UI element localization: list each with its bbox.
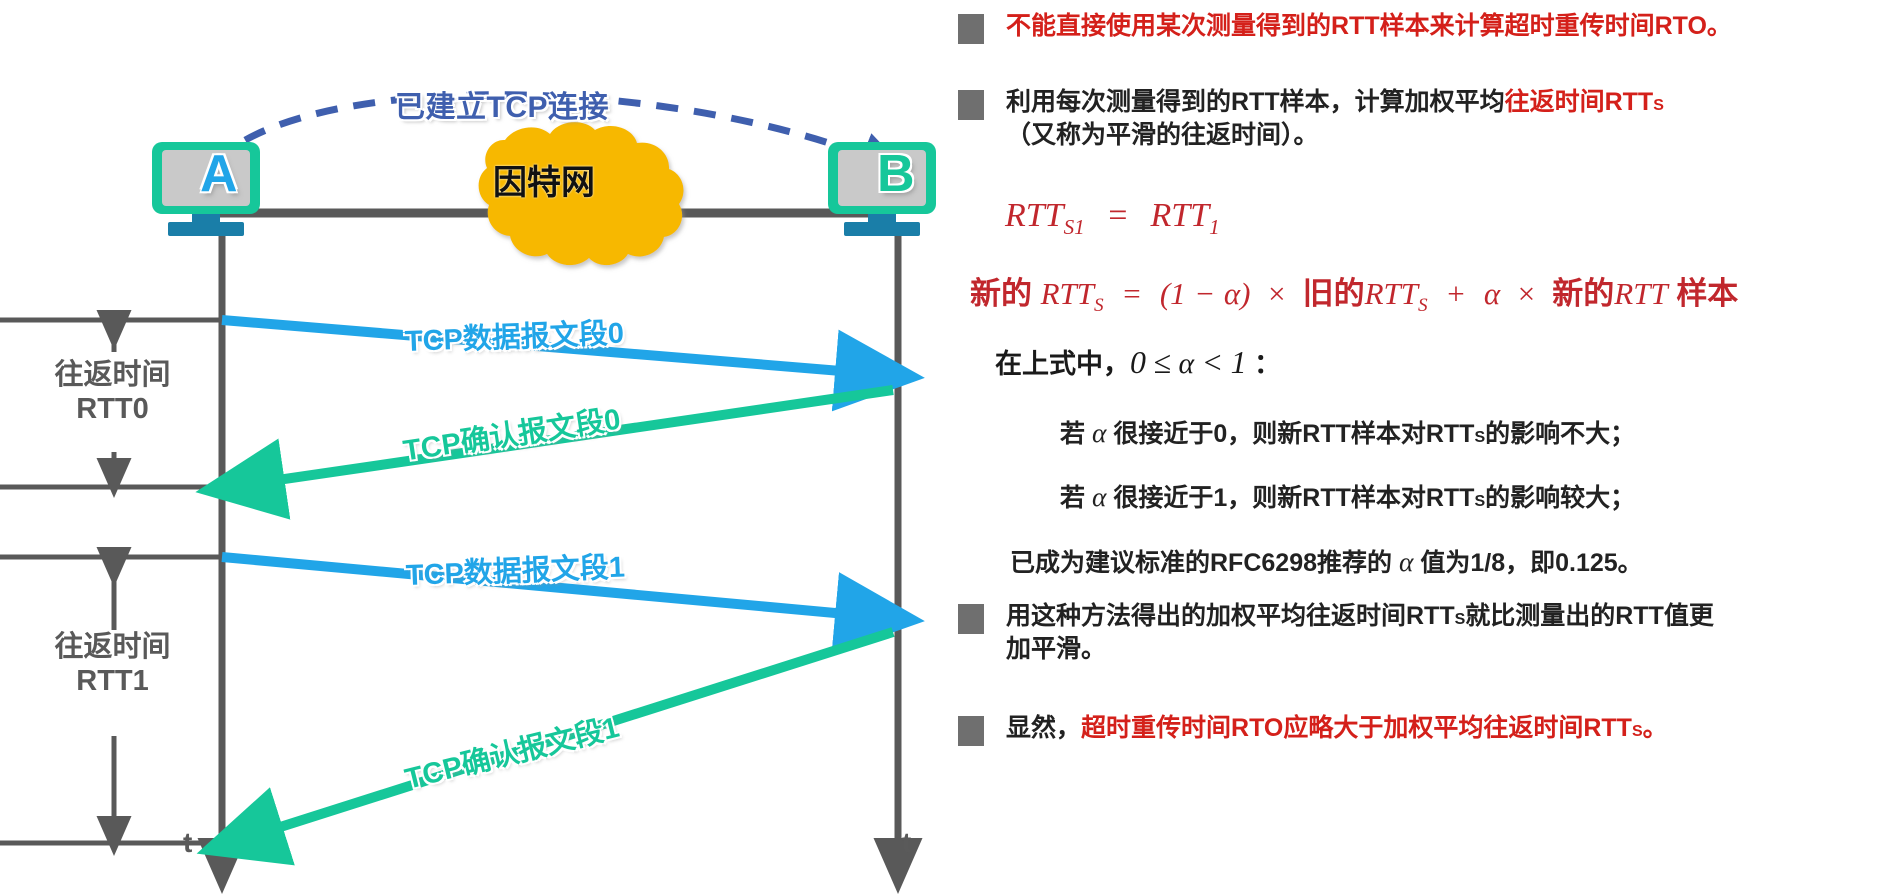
explanation-panel: 不能直接使用某次测量得到的RTT样本来计算超时重传时间RTO。 利用每次测量得到…: [950, 0, 1901, 896]
formula-2-times-1: ×: [1259, 276, 1294, 311]
host-a-label: A: [200, 148, 238, 200]
formula-2-rtt-old-sub: S: [1418, 295, 1428, 316]
alpha-case-1-body: 很接近于1，则新RTT样本对RTT: [1113, 484, 1474, 512]
rfc-suffix: 值为1/8，即0.125。: [1420, 549, 1642, 577]
bullet-2-line-1-subscript: S: [1653, 97, 1664, 114]
tcp-rtt-sequence-diagram: 已建立TCP连接 因特网 A B 往返时间 RTT0 往返时间 RTT1 t t…: [0, 0, 950, 896]
bullet-3-text: 用这种方法得出的加权平均往返时间RTTS就比测量出的RTT值更 加平滑。: [1006, 600, 1714, 666]
bullet-square-icon: [958, 90, 984, 120]
data-segment-0-label: TCP数据报文段0: [404, 310, 625, 360]
bullet-item-3: 用这种方法得出的加权平均往返时间RTTS就比测量出的RTT值更 加平滑。: [958, 600, 1888, 666]
formula-2-new-label: 新的: [970, 276, 1032, 311]
bullet-4-text: 显然，超时重传时间RTO应略大于加权平均往返时间RTTS。: [1006, 712, 1668, 745]
formula-rtt-s-update: 新的 RTTS = (1 − α) × 旧的RTTS + α × 新的RTT 样…: [970, 268, 1738, 317]
formula-1-lhs: RTT: [1005, 197, 1064, 234]
formula-2-rtt-sub: S: [1094, 295, 1104, 316]
formula-1-equals: =: [1094, 197, 1141, 234]
alpha-range-le: ≤: [1153, 345, 1171, 380]
formula-2-close-paren: ): [1240, 276, 1250, 311]
formula-1-rhs: RTT: [1151, 197, 1210, 234]
formula-2-rtt-sample: RTT: [1614, 276, 1667, 311]
rtt0-label: 往返时间 RTT0: [10, 358, 215, 426]
bullet-2-line-1-plain: 利用每次测量得到的RTT样本，计算加权平均: [1006, 88, 1505, 116]
alpha-range-zero: 0: [1130, 345, 1146, 380]
bullet-4-period: 。: [1643, 714, 1668, 742]
host-b-label: B: [877, 148, 915, 200]
formula-2-plus: +: [1436, 276, 1475, 311]
alpha-range-alpha: α: [1178, 348, 1194, 380]
internet-cloud-label: 因特网: [493, 155, 595, 204]
slide-root: 已建立TCP连接 因特网 A B 往返时间 RTT0 往返时间 RTT1 t t…: [0, 0, 1901, 896]
rtt1-label: 往返时间 RTT1: [10, 630, 215, 698]
formula-2-rtt-old: RTT: [1365, 276, 1418, 311]
alpha-case-0-subscript: S: [1474, 429, 1485, 446]
bullet-item-1: 不能直接使用某次测量得到的RTT样本来计算超时重传时间RTO。: [958, 10, 1888, 44]
formula-2-times-2: ×: [1509, 276, 1544, 311]
bullet-1-text: 不能直接使用某次测量得到的RTT样本来计算超时重传时间RTO。: [1006, 10, 1732, 43]
rtt0-label-line2: RTT0: [10, 392, 215, 426]
rtt0-label-line1: 往返时间: [10, 358, 215, 392]
bullet-4-prefix: 显然，: [1006, 714, 1081, 742]
bullet-2-line-2: （又称为平滑的往返时间）。: [1006, 119, 1664, 152]
alpha-case-1-prefix: 若: [1060, 484, 1085, 512]
alpha-range-colon: ：: [1254, 349, 1281, 379]
bullet-item-2: 利用每次测量得到的RTT样本，计算加权平均往返时间RTTS （又称为平滑的往返时…: [958, 86, 1888, 152]
bullet-3-subscript: S: [1455, 611, 1466, 628]
rtt1-label-line2: RTT1: [10, 664, 215, 698]
formula-2-rtt: RTT: [1041, 276, 1094, 311]
time-axis-label-right: t: [902, 827, 911, 859]
alpha-case-0-prefix: 若: [1060, 420, 1085, 448]
formula-2-old-label: 旧的: [1303, 276, 1365, 311]
alpha-case-0-body: 很接近于0，则新RTT样本对RTT: [1113, 420, 1474, 448]
bullet-2-line-1-highlight: 往返时间RTT: [1505, 88, 1654, 116]
formula-2-one: 1: [1170, 276, 1186, 311]
rtt1-label-line1: 往返时间: [10, 630, 215, 664]
alpha-case-near-zero: 若 α 很接近于0，则新RTT样本对RTTS的影响不大；: [1060, 415, 1635, 451]
formula-2-alpha-2: α: [1484, 276, 1500, 311]
formula-2-new-label-2: 新的: [1552, 276, 1614, 311]
data-segment-1-label: TCP数据报文段1: [405, 544, 626, 594]
alpha-case-0-tail: 的影响不大；: [1485, 420, 1635, 448]
formula-rtt-s1: RTTS1 = RTT1: [1005, 196, 1220, 240]
rfc6298-line: 已成为建议标准的RFC6298推荐的 α 值为1/8，即0.125。: [1010, 544, 1643, 580]
formula-1-lhs-sub: S1: [1064, 215, 1085, 239]
bullet-3-line-1: 用这种方法得出的加权平均往返时间RTTS就比测量出的RTT值更: [1006, 600, 1714, 633]
bullet-square-icon: [958, 604, 984, 634]
alpha-range-prefix: 在上式中，: [995, 349, 1130, 379]
alpha-case-1-alpha: α: [1092, 481, 1106, 512]
alpha-case-1-tail: 的影响较大；: [1485, 484, 1635, 512]
bullet-2-line-1: 利用每次测量得到的RTT样本，计算加权平均往返时间RTTS: [1006, 86, 1664, 119]
alpha-range-line: 在上式中，0 ≤ α < 1 ：: [995, 342, 1281, 384]
alpha-case-near-one: 若 α 很接近于1，则新RTT样本对RTTS的影响较大；: [1060, 479, 1635, 515]
bullet-square-icon: [958, 716, 984, 746]
formula-2-open-paren: (: [1160, 276, 1170, 311]
formula-2-sample-label: 样本: [1676, 276, 1738, 311]
bullet-4-subscript: S: [1632, 723, 1643, 740]
bullet-2-text: 利用每次测量得到的RTT样本，计算加权平均往返时间RTTS （又称为平滑的往返时…: [1006, 86, 1664, 152]
formula-2-alpha: α: [1224, 276, 1240, 311]
time-axis-label-left: t: [183, 827, 192, 859]
bullet-square-icon: [958, 14, 984, 44]
bullet-3-line-1-b: 就比测量出的RTT值更: [1465, 602, 1714, 630]
rfc-alpha: α: [1399, 546, 1413, 577]
alpha-range-one: 1: [1231, 345, 1247, 380]
formula-2-minus: −: [1194, 276, 1215, 311]
formula-1-rhs-sub: 1: [1209, 215, 1220, 239]
formula-2-equals: =: [1112, 276, 1151, 311]
alpha-range-lt: <: [1202, 345, 1224, 380]
alpha-case-1-subscript: S: [1474, 493, 1485, 510]
bullet-3-line-2: 加平滑。: [1006, 633, 1714, 666]
bullet-3-line-1-a: 用这种方法得出的加权平均往返时间RTT: [1006, 602, 1455, 630]
bullet-4-highlight: 超时重传时间RTO应略大于加权平均往返时间RTT: [1081, 714, 1632, 742]
alpha-case-0-alpha: α: [1092, 417, 1106, 448]
tcp-connection-label: 已建立TCP连接: [395, 82, 609, 126]
rfc-prefix: 已成为建议标准的RFC6298推荐的: [1010, 549, 1392, 577]
bullet-item-4: 显然，超时重传时间RTO应略大于加权平均往返时间RTTS。: [958, 712, 1888, 746]
